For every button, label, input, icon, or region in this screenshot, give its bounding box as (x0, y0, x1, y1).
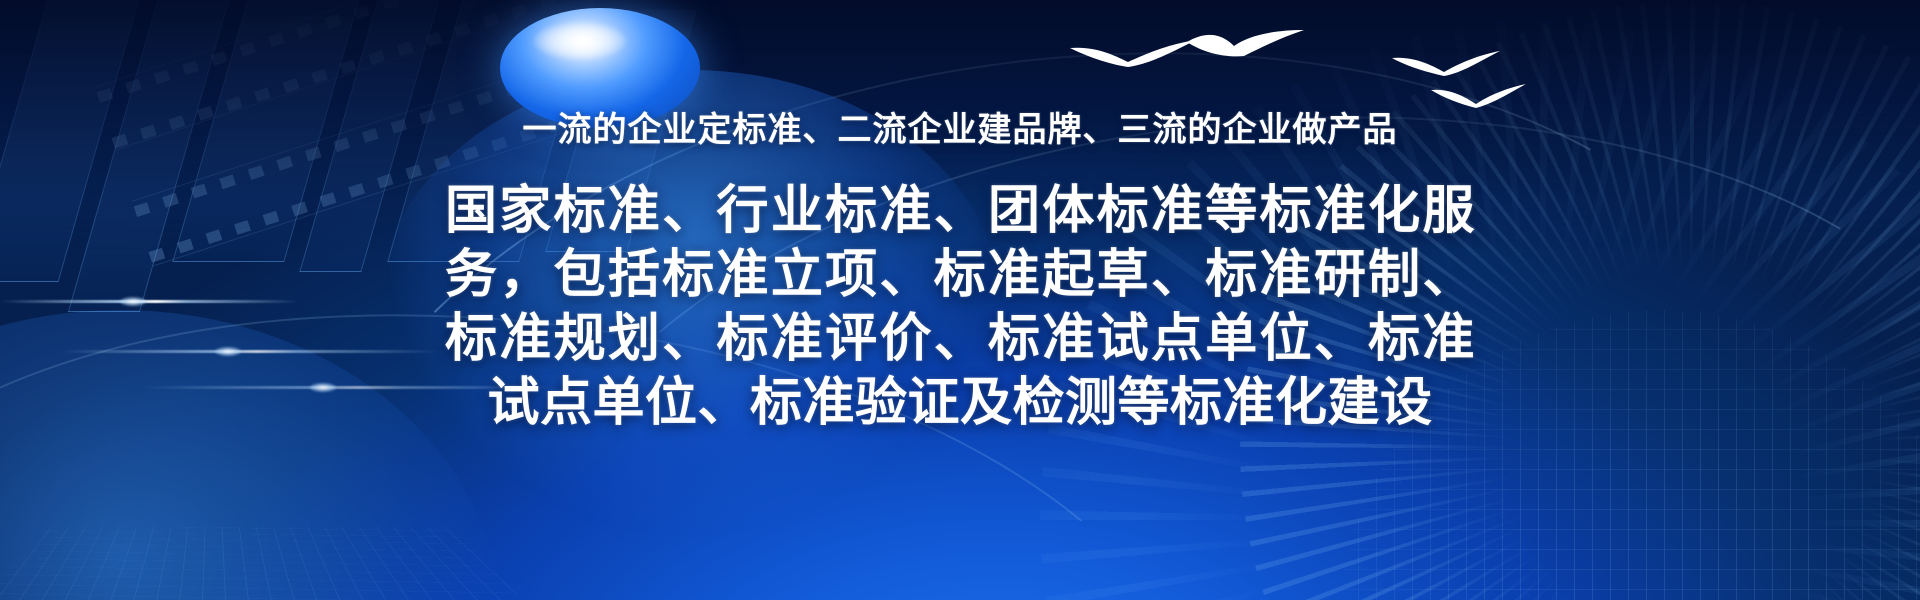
body-line-1: 国家标准、行业标准、团体标准等标准化服 (445, 179, 1475, 243)
body-line-4: 试点单位、标准验证及检测等标准化建设 (445, 371, 1475, 435)
text-content: 一流的企业定标准、二流企业建品牌、三流的企业做产品 国家标准、行业标准、团体标准… (0, 0, 1920, 600)
body-line-2: 务，包括标准立项、标准起草、标准研制、 (445, 243, 1475, 307)
body-line-3: 标准规划、标准评价、标准试点单位、标准 (445, 307, 1475, 371)
promo-banner: 一流的企业定标准、二流企业建品牌、三流的企业做产品 国家标准、行业标准、团体标准… (0, 0, 1920, 600)
banner-headline: 一流的企业定标准、二流企业建品牌、三流的企业做产品 (523, 113, 1398, 147)
banner-body-copy: 国家标准、行业标准、团体标准等标准化服 务，包括标准立项、标准起草、标准研制、 … (445, 179, 1475, 435)
